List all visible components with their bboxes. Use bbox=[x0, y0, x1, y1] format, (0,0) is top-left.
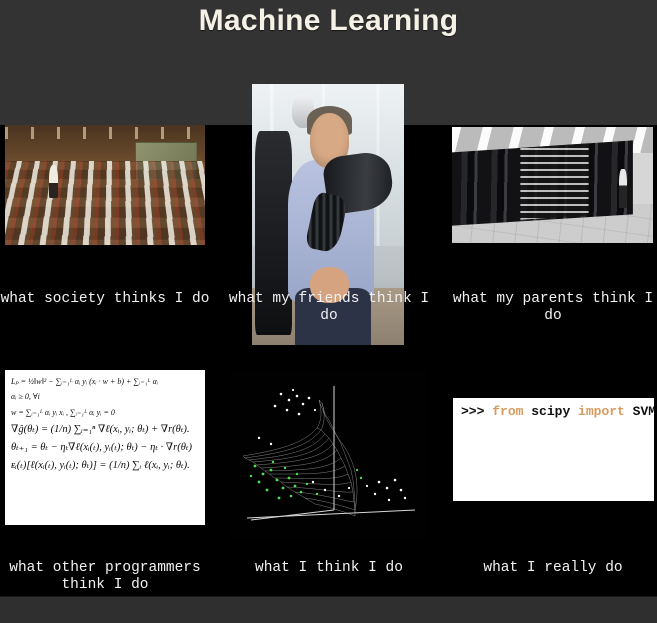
equation-line: w = ∑ᵢ₌₁ᴸ αᵢ yᵢ xᵢ , ∑ᵢ₌₁ᴸ αᵢ yᵢ = 0 bbox=[11, 409, 199, 417]
technician-figure bbox=[619, 169, 627, 208]
equation-line: ∇ĝ(θₜ) = (1/n) ∑ᵢ₌₁ⁿ ∇ℓ(xᵢ, yᵢ; θₜ) + ∇r… bbox=[11, 424, 199, 435]
panel-grid: what society thinks I do what my friends… bbox=[0, 57, 657, 598]
imported-symbol: SVM bbox=[625, 404, 654, 419]
keyword-from: from bbox=[492, 404, 523, 419]
image-python-repl: >>> from scipy import SVM bbox=[453, 398, 654, 501]
lecturer-figure bbox=[49, 165, 58, 199]
image-equations: Lₚ = ½‖w‖² − ∑ᵢ₌₁ᴸ αᵢ yᵢ (xᵢ · w + b) + … bbox=[5, 370, 205, 525]
repl-prompt: >>> bbox=[461, 404, 492, 419]
seat-rows bbox=[5, 161, 205, 245]
caption-society: what society thinks I do bbox=[0, 291, 210, 308]
wireframe-mesh bbox=[243, 400, 357, 516]
server-rack-front-panel bbox=[520, 143, 588, 220]
equation-line: ᴇᵢ(ₜ)[ℓ(xᵢ(ₜ), yᵢ(ₜ); θₜ)] = (1/n) ∑ᵢ ℓ(… bbox=[11, 460, 199, 471]
equation-line: αᵢ ≥ 0, ∀i bbox=[11, 393, 199, 401]
caption-i-think: what I think I do bbox=[224, 560, 434, 577]
ceiling-lights bbox=[5, 127, 205, 139]
image-lecture-hall bbox=[5, 125, 205, 245]
caption-other-programmers: what other programmers think I do bbox=[0, 560, 210, 594]
equation-line: Lₚ = ½‖w‖² − ∑ᵢ₌₁ᴸ αᵢ yᵢ (xᵢ · w + b) + … bbox=[11, 378, 199, 386]
equation-list: Lₚ = ½‖w‖² − ∑ᵢ₌₁ᴸ αᵢ yᵢ (xᵢ · w + b) + … bbox=[11, 378, 199, 478]
caption-parents: what my parents think I do bbox=[448, 291, 657, 325]
module-name: scipy bbox=[523, 404, 578, 419]
meme-image: Machine Learning what society thinks I d… bbox=[0, 0, 657, 623]
image-server-room bbox=[452, 127, 653, 243]
scatter-plot-svg bbox=[229, 370, 427, 538]
keyword-import: import bbox=[578, 404, 625, 419]
equation-line: θₜ₊₁ = θₜ − ηₜ∇ℓ(xᵢ(ₜ), yᵢ(ₜ); θₜ) − ηₜ … bbox=[11, 442, 199, 453]
caption-i-really: what I really do bbox=[448, 560, 657, 577]
page-title: Machine Learning bbox=[0, 4, 657, 38]
caption-friends: what my friends think I do bbox=[224, 291, 434, 325]
footer-bar bbox=[0, 596, 657, 623]
code-statement: >>> from scipy import SVM bbox=[461, 404, 654, 419]
image-3d-scatter-plot bbox=[229, 370, 427, 538]
